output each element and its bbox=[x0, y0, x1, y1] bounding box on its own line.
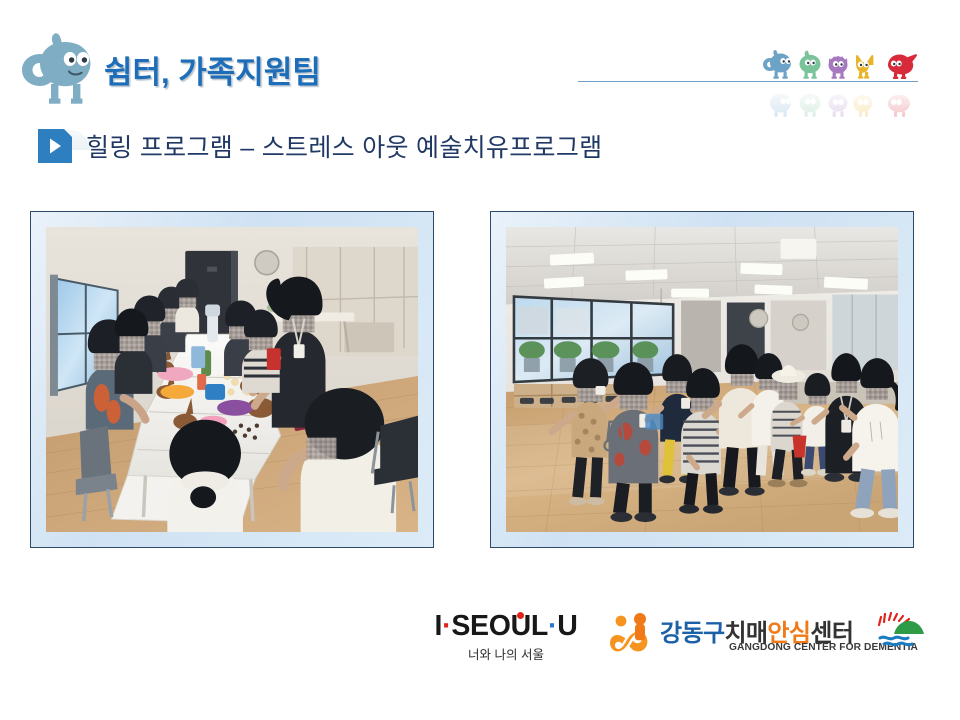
wordmark-u: U bbox=[557, 610, 577, 642]
two-people-infinity-icon bbox=[610, 611, 656, 657]
play-triangle-icon bbox=[38, 129, 72, 163]
photo-group-movement bbox=[490, 211, 914, 548]
header-character-row bbox=[762, 44, 922, 82]
seoul-o-accent-icon bbox=[517, 612, 524, 619]
seoul-tagline: 너와 나의 서울 bbox=[418, 644, 594, 663]
slide-canvas: 쉼터, 가족지원팀 bbox=[0, 0, 960, 720]
wordmark-dot-blue: · bbox=[548, 610, 557, 642]
photo-group-movement-image bbox=[506, 227, 898, 532]
gangdong-text: 강동구 bbox=[660, 620, 724, 647]
slide-header: 쉼터, 가족지원팀 bbox=[0, 0, 960, 115]
photo-craft-workshop bbox=[30, 211, 434, 548]
character-yellow bbox=[856, 55, 873, 79]
i-seoul-u-wordmark: I·SEOUL·U bbox=[418, 610, 594, 643]
wordmark-seoul: SEOUL bbox=[451, 610, 548, 642]
wordmark-i: I bbox=[434, 610, 442, 642]
character-red bbox=[888, 54, 917, 79]
photo-craft-workshop-image bbox=[46, 227, 418, 532]
mascot-blob-icon bbox=[18, 28, 102, 110]
character-green bbox=[800, 51, 821, 79]
wordmark-dot-red: · bbox=[442, 610, 451, 642]
header-character-row-reflection bbox=[762, 83, 922, 117]
character-blue bbox=[763, 50, 791, 79]
subtitle-label: 힐링 프로그램 – 스트레스 아웃 예술치유프로그램 bbox=[86, 128, 602, 164]
section-subtitle: 힐링 프로그램 – 스트레스 아웃 예술치유프로그램 bbox=[38, 128, 602, 164]
gangdong-gu-emblem-icon bbox=[876, 612, 930, 648]
gangdong-dementia-center-logo: 강동구치매안심센터 GANGDONG CENTER FOR DEMENTIA bbox=[610, 608, 930, 666]
i-seoul-u-logo: I·SEOUL·U 너와 나의 서울 bbox=[418, 608, 594, 666]
footer-logo-group: I·SEOUL·U 너와 나의 서울 강동구치매안심센터 GANGDONG CE… bbox=[418, 608, 943, 670]
page-title: 쉼터, 가족지원팀 bbox=[104, 47, 321, 92]
character-purple bbox=[829, 56, 848, 79]
